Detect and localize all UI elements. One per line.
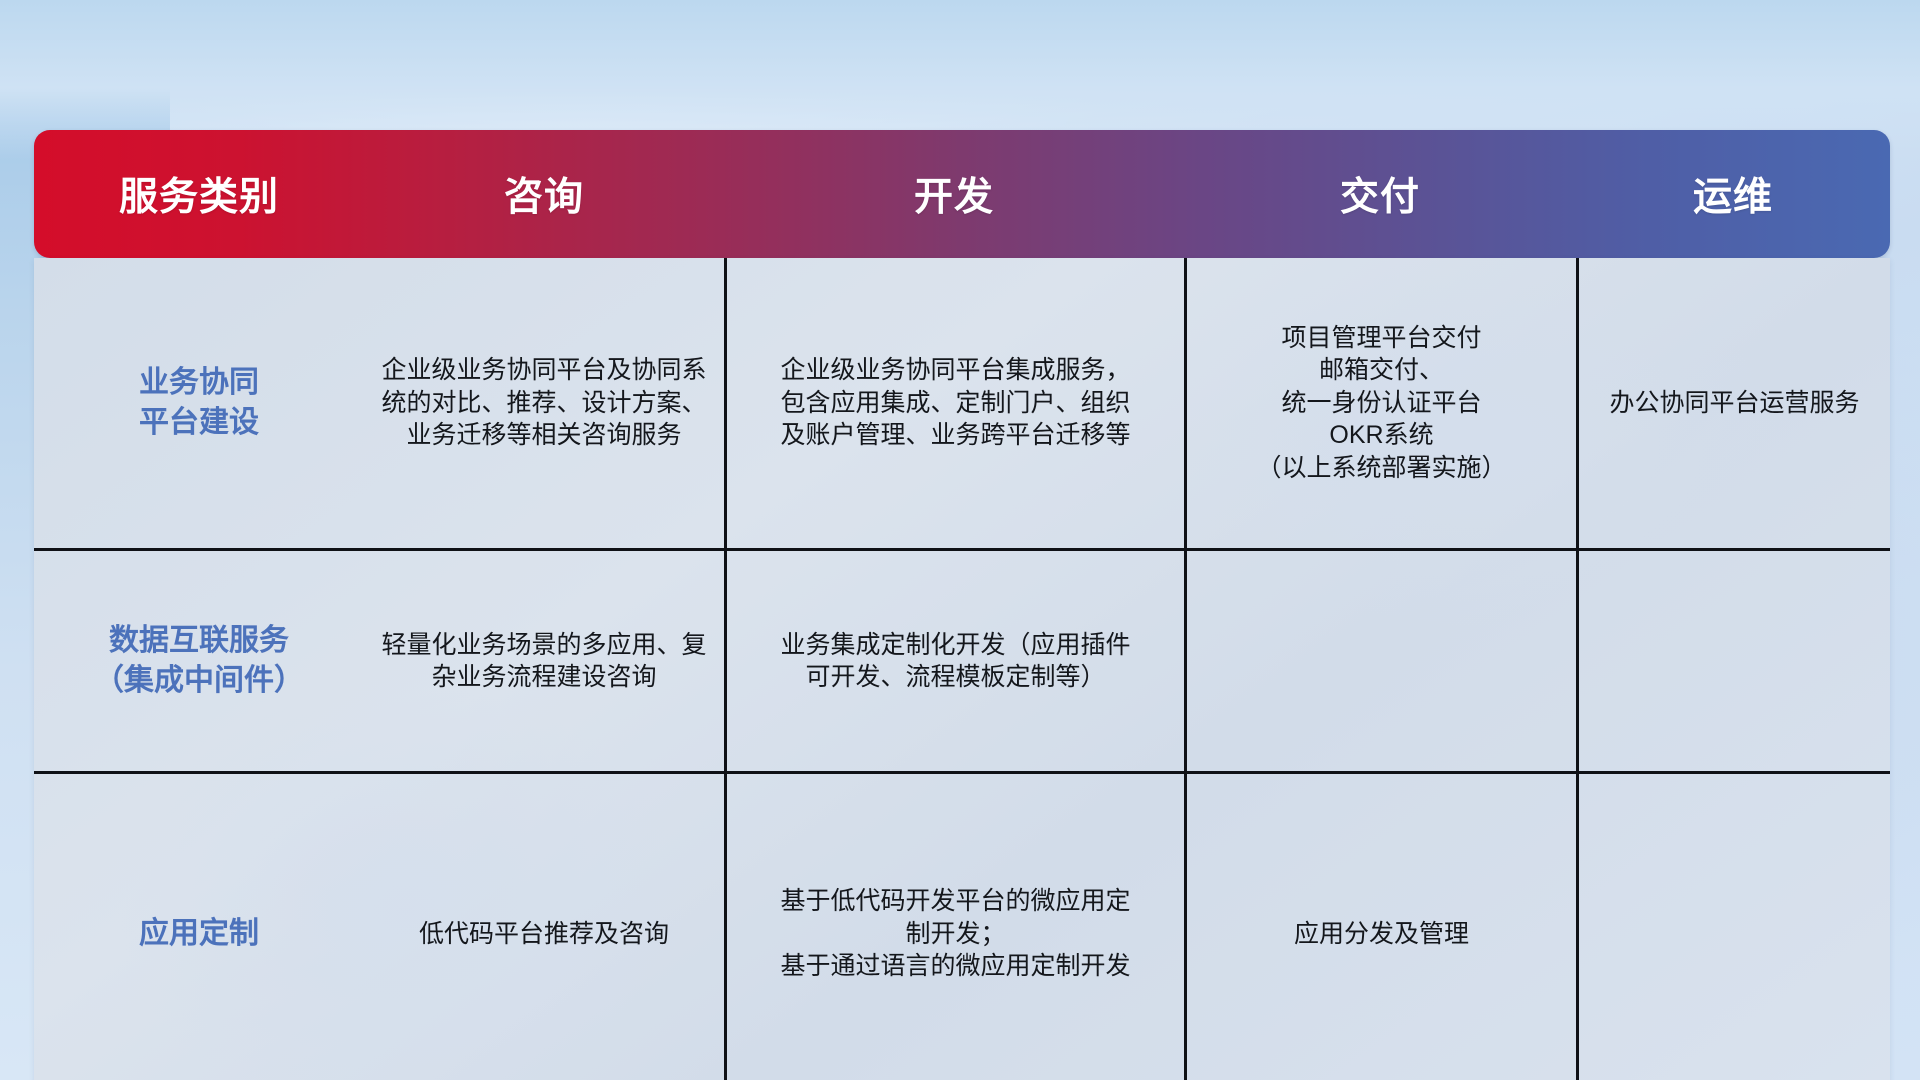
- cell-consulting-2: 轻量化业务场景的多应用、复 杂业务流程建设咨询: [364, 551, 724, 771]
- service-matrix-table: 服务类别 咨询 开发 交付 运维 业务协同 平台建设 企业级业务协同平台及协同系…: [34, 130, 1890, 1080]
- cell-delivery-2: [1184, 551, 1576, 771]
- cell-development-2: 业务集成定制化开发（应用插件 可开发、流程模板定制等）: [724, 551, 1184, 771]
- column-header-development: 开发: [724, 130, 1184, 258]
- column-header-delivery: 交付: [1184, 130, 1576, 258]
- cell-operations-1: 办公协同平台运营服务: [1576, 258, 1890, 548]
- cell-operations-2: [1576, 551, 1890, 771]
- cell-operations-3: [1576, 774, 1890, 1080]
- table-header-row: 服务类别 咨询 开发 交付 运维: [34, 130, 1890, 258]
- column-header-category: 服务类别: [34, 130, 364, 258]
- table-row: 业务协同 平台建设 企业级业务协同平台及协同系 统的对比、推荐、设计方案、 业务…: [34, 258, 1890, 548]
- table-body: 业务协同 平台建设 企业级业务协同平台及协同系 统的对比、推荐、设计方案、 业务…: [34, 258, 1890, 1080]
- cell-development-3: 基于低代码开发平台的微应用定 制开发； 基于通过语言的微应用定制开发: [724, 774, 1184, 1080]
- cell-consulting-3: 低代码平台推荐及咨询: [364, 774, 724, 1080]
- column-header-operations: 运维: [1576, 130, 1890, 258]
- cell-category-3: 应用定制: [34, 774, 364, 1080]
- cell-category-1: 业务协同 平台建设: [34, 258, 364, 548]
- cell-delivery-3: 应用分发及管理: [1184, 774, 1576, 1080]
- column-header-consulting: 咨询: [364, 130, 724, 258]
- cell-category-2: 数据互联服务 （集成中间件）: [34, 551, 364, 771]
- cell-delivery-1: 项目管理平台交付 邮箱交付、 统一身份认证平台 OKR系统 （以上系统部署实施）: [1184, 258, 1576, 548]
- table-row: 应用定制 低代码平台推荐及咨询 基于低代码开发平台的微应用定 制开发； 基于通过…: [34, 771, 1890, 1080]
- cell-consulting-1: 企业级业务协同平台及协同系 统的对比、推荐、设计方案、 业务迁移等相关咨询服务: [364, 258, 724, 548]
- table-row: 数据互联服务 （集成中间件） 轻量化业务场景的多应用、复 杂业务流程建设咨询 业…: [34, 548, 1890, 771]
- cell-development-1: 企业级业务协同平台集成服务， 包含应用集成、定制门户、组织 及账户管理、业务跨平…: [724, 258, 1184, 548]
